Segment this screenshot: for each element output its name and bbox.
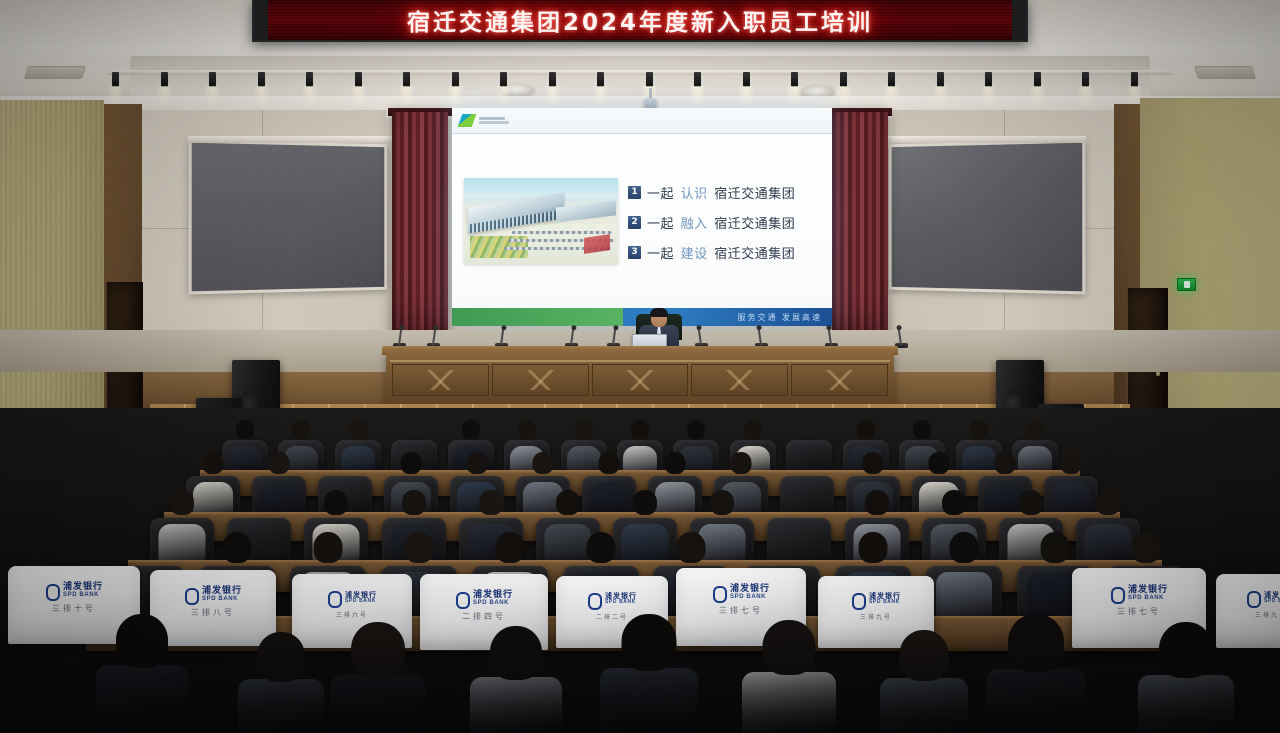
slide-item-text: 一起 认识 宿迁交通集团 bbox=[647, 183, 795, 202]
audience-person-head bbox=[1132, 532, 1161, 563]
audience-person bbox=[259, 452, 299, 519]
speaker-hair bbox=[650, 308, 668, 317]
audience-person-head bbox=[467, 452, 488, 474]
spotlight-icon bbox=[888, 72, 895, 87]
spd-bank-brand: 浦发银行SPD BANK bbox=[1246, 590, 1280, 605]
spd-bank-wordmark: 浦发银行SPD BANK bbox=[1128, 586, 1168, 601]
audience-person-head bbox=[1096, 490, 1120, 515]
audience-person-head bbox=[1026, 420, 1044, 439]
spotlight-icon bbox=[452, 72, 459, 87]
slide-footer-text: 服务交通 发展高速 bbox=[737, 312, 822, 323]
spd-bank-name-cn: 浦发银行 bbox=[63, 583, 103, 592]
audience-person-head bbox=[633, 490, 657, 515]
audience-person-head bbox=[349, 420, 367, 439]
audience-person-head bbox=[1041, 532, 1070, 563]
audience-person-head bbox=[859, 532, 888, 563]
audience-person-head bbox=[236, 420, 254, 439]
spd-bank-name-en: SPD BANK bbox=[605, 600, 637, 605]
spotlight-icon bbox=[355, 72, 362, 87]
acoustic-sill-right bbox=[882, 136, 1086, 143]
spd-bank-wordmark: 浦发银行SPD BANK bbox=[202, 587, 242, 602]
spotlight-icon bbox=[209, 72, 216, 87]
spd-bank-wordmark: 浦发银行SPD BANK bbox=[1264, 592, 1280, 604]
ceiling-vent-right bbox=[1194, 66, 1256, 79]
audience-person-head bbox=[556, 490, 580, 515]
audience-person-head bbox=[575, 420, 593, 439]
spd-bank-name-en: SPD BANK bbox=[345, 599, 377, 604]
spd-bank-name-en: SPD BANK bbox=[202, 596, 242, 602]
slide-item-text: 一起 建设 宿迁交通集团 bbox=[647, 243, 795, 262]
audience-person-head bbox=[710, 490, 734, 515]
audience-person-head bbox=[586, 532, 615, 563]
foreground-attendee-head bbox=[351, 622, 405, 678]
audience-person-head bbox=[865, 490, 889, 515]
chair-cover-seat-label: 三排九号 bbox=[1255, 610, 1280, 619]
chair-cover-seat-label: 三排六号 bbox=[336, 610, 368, 619]
foreground-attendee bbox=[986, 614, 1086, 733]
spotlight-icon bbox=[403, 72, 410, 87]
spotlight-icon bbox=[743, 72, 750, 87]
spd-bank-name-cn: 浦发银行 bbox=[1128, 586, 1168, 595]
spotlight-icon bbox=[258, 72, 265, 87]
spotlight-icon bbox=[694, 72, 701, 87]
audience-person-head bbox=[599, 452, 620, 474]
chair-cover-content: 浦发银行SPD BANK三排七号 bbox=[676, 585, 806, 616]
audience-person-head bbox=[222, 532, 251, 563]
audience-person bbox=[622, 490, 669, 566]
chair-cover-content: 浦发银行SPD BANK二排四号 bbox=[420, 591, 548, 622]
spd-bank-brand: 浦发银行SPD BANK bbox=[184, 587, 242, 602]
head-table-trim bbox=[390, 360, 890, 362]
audience-person bbox=[341, 420, 375, 477]
audience-person-head bbox=[665, 452, 686, 474]
spd-bank-name-en: SPD BANK bbox=[1264, 599, 1280, 604]
spd-bank-logo-icon bbox=[1246, 590, 1261, 605]
spotlight-icon bbox=[791, 72, 798, 87]
audience-person-head bbox=[203, 452, 224, 474]
slide-item: 2一起 融入 宿迁交通集团 bbox=[628, 213, 795, 232]
spd-bank-wordmark: 浦发银行SPD BANK bbox=[730, 585, 770, 600]
spd-bank-logo-icon bbox=[1110, 586, 1125, 601]
audience-person-head bbox=[995, 452, 1016, 474]
audience-person-head bbox=[731, 452, 752, 474]
audience-person-head bbox=[313, 532, 342, 563]
foreground-attendee-torso bbox=[1138, 675, 1234, 733]
slide-bullet-list: 1一起 认识 宿迁交通集团2一起 融入 宿迁交通集团3一起 建设 宿迁交通集团 bbox=[628, 181, 795, 262]
foreground-attendee bbox=[96, 614, 188, 732]
sqjt-group-logo-icon bbox=[458, 114, 477, 127]
spotlight-icon bbox=[646, 72, 653, 87]
head-table-panel bbox=[392, 364, 489, 396]
spd-bank-logo-icon bbox=[851, 592, 866, 607]
spd-bank-wordmark: 浦发银行SPD BANK bbox=[473, 591, 513, 606]
audience-person-torso bbox=[936, 572, 992, 622]
foreground-attendee-head bbox=[900, 630, 949, 681]
spd-bank-name-cn: 浦发银行 bbox=[473, 591, 513, 600]
slide-item-keyword: 认识 bbox=[679, 187, 710, 202]
spd-bank-brand: 浦发银行SPD BANK bbox=[1110, 586, 1168, 601]
photo-vehicle-row bbox=[512, 231, 612, 234]
chair-cover-content: 浦发银行SPD BANK三排九号 bbox=[1216, 590, 1280, 619]
audience-person-head bbox=[401, 452, 422, 474]
audience-person-head bbox=[942, 490, 966, 515]
spd-bank-brand: 浦发银行SPD BANK bbox=[851, 592, 901, 607]
spd-bank-name-en: SPD BANK bbox=[869, 600, 901, 605]
audience-person-head bbox=[857, 420, 875, 439]
chair-cover-seat-label: 三排八号 bbox=[191, 607, 235, 618]
audience-seat[interactable] bbox=[780, 476, 834, 516]
slide-aerial-photo bbox=[464, 178, 618, 264]
spd-bank-logo-icon bbox=[327, 590, 342, 605]
spd-bank-brand: 浦发银行SPD BANK bbox=[712, 585, 770, 600]
acoustic-panel-right bbox=[889, 140, 1086, 295]
audience-person bbox=[228, 420, 262, 477]
audience-person-head bbox=[970, 420, 988, 439]
spd-bank-name-en: SPD BANK bbox=[1128, 595, 1168, 601]
spotlight-icon bbox=[549, 72, 556, 87]
foreground-attendee bbox=[1138, 622, 1234, 733]
audience-person-head bbox=[269, 452, 290, 474]
audience-person-head bbox=[402, 490, 426, 515]
foreground-attendee bbox=[470, 626, 562, 733]
foreground-attendee-torso bbox=[986, 669, 1086, 733]
chair-cover-seat-label: 三排七号 bbox=[719, 605, 763, 616]
slide-surface: 1一起 认识 宿迁交通集团2一起 融入 宿迁交通集团3一起 建设 宿迁交通集团 … bbox=[452, 108, 832, 326]
spd-bank-name-cn: 浦发银行 bbox=[730, 585, 770, 594]
foreground-attendee bbox=[600, 614, 698, 733]
chair-cover-content: 浦发银行SPD BANK三排六号 bbox=[292, 590, 412, 619]
head-table-panel bbox=[791, 364, 888, 396]
slide-logo-wordmark bbox=[479, 117, 509, 124]
spd-bank-logo-icon bbox=[45, 583, 60, 598]
audience-person-head bbox=[533, 452, 554, 474]
chair-cover-content: 浦发银行SPD BANK三排十号 bbox=[8, 583, 140, 614]
audience-area: 浦发银行SPD BANK三排十号浦发银行SPD BANK三排八号浦发银行SPD … bbox=[0, 408, 1280, 733]
audience-person-head bbox=[863, 452, 884, 474]
audience-person-head bbox=[929, 452, 950, 474]
spd-bank-wordmark: 浦发银行SPD BANK bbox=[605, 593, 637, 605]
slide-body: 1一起 认识 宿迁交通集团2一起 融入 宿迁交通集团3一起 建设 宿迁交通集团 bbox=[452, 134, 832, 308]
chair-cover-seat-label: 三排七号 bbox=[1117, 606, 1161, 617]
foreground-attendee-head bbox=[116, 614, 168, 668]
spd-bank-brand: 浦发银行SPD BANK bbox=[455, 591, 513, 606]
foreground-attendee-torso bbox=[238, 679, 324, 733]
foreground-attendee-torso bbox=[600, 668, 698, 733]
slide-item-number: 3 bbox=[628, 246, 641, 259]
slide-item: 1一起 认识 宿迁交通集团 bbox=[628, 183, 795, 202]
foreground-attendee-head bbox=[490, 626, 542, 680]
audience-person-head bbox=[324, 490, 348, 515]
slide-item-number: 1 bbox=[628, 186, 641, 199]
auditorium-scene: 宿迁交通集团2024年度新入职员工培训 bbox=[0, 0, 1280, 733]
head-table-panel bbox=[691, 364, 788, 396]
foreground-attendee-head bbox=[1159, 622, 1213, 678]
lighting-track bbox=[108, 70, 1172, 75]
spd-bank-wordmark: 浦发银行SPD BANK bbox=[345, 592, 377, 604]
foreground-attendee-torso bbox=[330, 675, 426, 733]
audience-seat[interactable] bbox=[786, 440, 832, 474]
foreground-attendee-head bbox=[257, 632, 305, 682]
spotlight-icon bbox=[1131, 72, 1138, 87]
spd-bank-wordmark: 浦发银行SPD BANK bbox=[63, 583, 103, 598]
spotlight-icon bbox=[840, 72, 847, 87]
spd-bank-logo-icon bbox=[455, 591, 470, 606]
slide-item: 3一起 建设 宿迁交通集团 bbox=[628, 243, 795, 262]
spotlight-icon bbox=[985, 72, 992, 87]
spotlight-icon bbox=[597, 72, 604, 87]
audience-person-head bbox=[744, 420, 762, 439]
stage-curtain-left bbox=[392, 112, 448, 358]
audience-person-head bbox=[677, 532, 706, 563]
acoustic-sill-left bbox=[188, 136, 394, 143]
audience-person-head bbox=[479, 490, 503, 515]
spd-bank-name-en: SPD BANK bbox=[63, 592, 103, 598]
foreground-attendee-torso bbox=[880, 678, 968, 733]
spotlight-icon bbox=[1034, 72, 1041, 87]
slide-item-number: 2 bbox=[628, 216, 641, 229]
slide-item-keyword: 建设 bbox=[679, 247, 710, 262]
foreground-attendee bbox=[880, 630, 968, 733]
audience-person-head bbox=[495, 532, 524, 563]
audience-seat[interactable] bbox=[767, 518, 831, 564]
spd-bank-brand: 浦发银行SPD BANK bbox=[327, 590, 377, 605]
chair-cover-seat-label: 三排九号 bbox=[860, 612, 892, 621]
spd-bank-name-en: SPD BANK bbox=[473, 600, 513, 606]
audience-person-head bbox=[687, 420, 705, 439]
foreground-attendee-head bbox=[1008, 614, 1064, 672]
audience-person-head bbox=[913, 420, 931, 439]
spd-bank-logo-icon bbox=[712, 585, 727, 600]
audience-person-head bbox=[462, 420, 480, 439]
spd-bank-brand: 浦发银行SPD BANK bbox=[587, 592, 637, 607]
spotlight-icon bbox=[161, 72, 168, 87]
led-bezel-right bbox=[1012, 0, 1026, 42]
emergency-exit-icon bbox=[1177, 278, 1196, 291]
chair-cover-content: 浦发银行SPD BANK三排七号 bbox=[1072, 586, 1206, 617]
audience-person bbox=[159, 490, 206, 566]
foreground-attendee-torso bbox=[742, 672, 836, 733]
foreground-attendee-torso bbox=[96, 665, 188, 732]
foreground-attendee-torso bbox=[470, 677, 562, 733]
foreground-attendee bbox=[330, 622, 426, 733]
spd-bank-wordmark: 浦发银行SPD BANK bbox=[869, 593, 901, 605]
spotlight-icon bbox=[306, 72, 313, 87]
audience-person-head bbox=[631, 420, 649, 439]
spotlight-icon bbox=[500, 72, 507, 87]
projection-screen: 1一起 认识 宿迁交通集团2一起 融入 宿迁交通集团3一起 建设 宿迁交通集团 … bbox=[452, 108, 832, 326]
slide-header bbox=[452, 108, 832, 134]
chair-cover-seat-label: 二排四号 bbox=[462, 611, 506, 622]
spotlight-icon bbox=[1082, 72, 1089, 87]
spotlight-icon bbox=[112, 72, 119, 87]
audience-person-head bbox=[292, 420, 310, 439]
head-table-panel bbox=[592, 364, 689, 396]
audience-person-head bbox=[1019, 490, 1043, 515]
slide-item-keyword: 融入 bbox=[679, 217, 710, 232]
spotlight-icon bbox=[937, 72, 944, 87]
led-bezel-left bbox=[254, 0, 268, 42]
photo-terminal-wing bbox=[556, 200, 616, 222]
audience-person-head bbox=[950, 532, 979, 563]
audience-person-head bbox=[1061, 452, 1082, 474]
chair-cover-content: 浦发银行SPD BANK三排九号 bbox=[818, 592, 934, 621]
spd-bank-logo-icon bbox=[184, 587, 199, 602]
chair-cover-seat-label: 三排十号 bbox=[52, 603, 96, 614]
spd-bank-name-en: SPD BANK bbox=[730, 594, 770, 600]
ceiling-vent-left bbox=[24, 66, 86, 79]
led-banner: 宿迁交通集团2024年度新入职员工培训 bbox=[252, 0, 1028, 42]
audience-person bbox=[936, 532, 992, 622]
led-banner-text: 宿迁交通集团2024年度新入职员工培训 bbox=[407, 3, 873, 37]
acoustic-panel-left bbox=[189, 140, 387, 295]
audience-person-head bbox=[404, 532, 433, 563]
head-table-panel bbox=[492, 364, 589, 396]
audience-person-head bbox=[170, 490, 194, 515]
audience-person-head bbox=[518, 420, 536, 439]
spd-bank-logo-icon bbox=[587, 592, 602, 607]
spd-bank-brand: 浦发银行SPD BANK bbox=[45, 583, 103, 598]
slide-item-text: 一起 融入 宿迁交通集团 bbox=[647, 213, 795, 232]
foreground-attendee bbox=[238, 632, 324, 733]
foreground-attendee-head bbox=[763, 620, 816, 675]
stage-curtain-right bbox=[832, 112, 888, 358]
spd-bank-name-cn: 浦发银行 bbox=[202, 587, 242, 596]
foreground-attendee bbox=[742, 620, 836, 733]
foreground-attendee-head bbox=[622, 614, 677, 671]
far-left-fabric-wall bbox=[0, 100, 104, 430]
